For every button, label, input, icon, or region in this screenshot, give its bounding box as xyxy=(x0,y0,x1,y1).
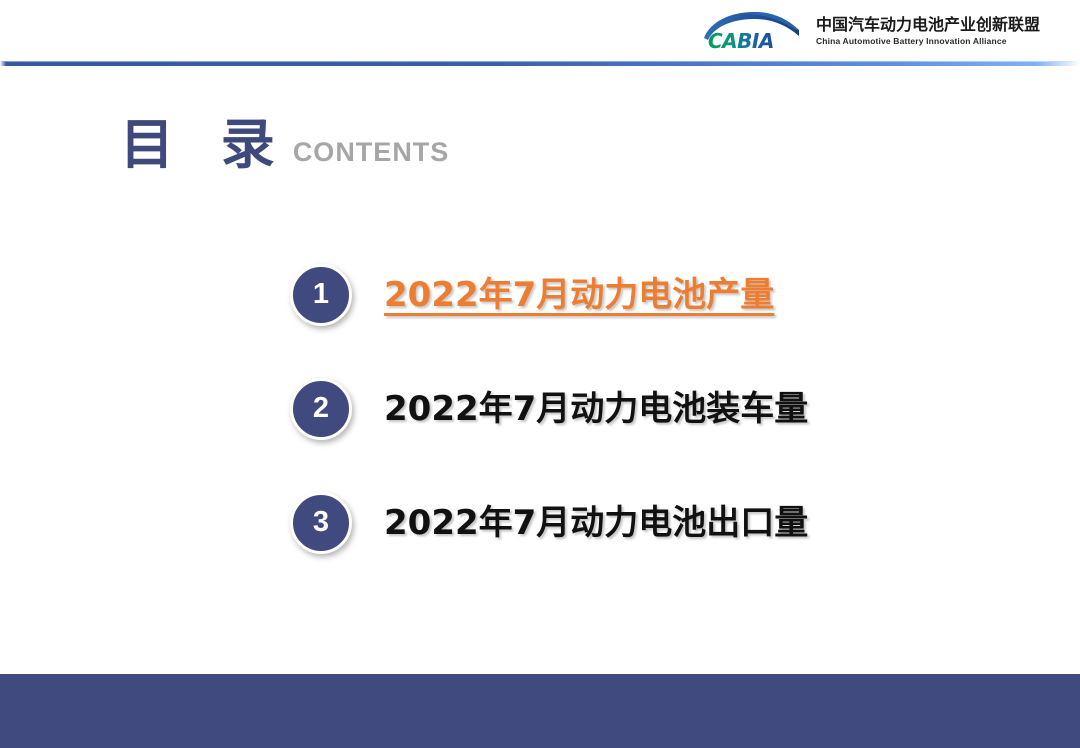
contents-badge-2: 2 xyxy=(290,378,352,440)
footer-bar xyxy=(0,674,1080,748)
brand-name-block: 中国汽车动力电池产业创新联盟 China Automotive Battery … xyxy=(816,17,1040,46)
page-title-cn: 目 录 xyxy=(120,118,289,172)
contents-label-3[interactable]: 2022年7月动力电池出口量 xyxy=(384,506,808,540)
contents-badge-1: 1 xyxy=(290,264,352,326)
page-title: 目 录 CONTENTS xyxy=(120,118,449,172)
contents-label-2[interactable]: 2022年7月动力电池装车量 xyxy=(384,392,808,426)
contents-list: 1 2022年7月动力电池产量 2 2022年7月动力电池装车量 3 2022年… xyxy=(290,264,1010,554)
contents-badge-number-3: 3 xyxy=(313,508,329,537)
cabia-car-logo-icon: CABIA xyxy=(700,10,804,52)
header-divider-highlight xyxy=(0,61,1080,62)
svg-text:CABIA: CABIA xyxy=(708,29,774,52)
contents-item-3[interactable]: 3 2022年7月动力电池出口量 xyxy=(290,492,1010,554)
contents-label-1[interactable]: 2022年7月动力电池产量 xyxy=(384,278,774,312)
contents-item-1[interactable]: 1 2022年7月动力电池产量 xyxy=(290,264,1010,326)
brand-logo: CABIA 中国汽车动力电池产业创新联盟 China Automotive Ba… xyxy=(700,10,1040,52)
contents-badge-number-1: 1 xyxy=(313,280,329,309)
page-title-en: CONTENTS xyxy=(293,139,450,166)
brand-name-cn: 中国汽车动力电池产业创新联盟 xyxy=(816,17,1040,33)
slide-header: CABIA 中国汽车动力电池产业创新联盟 China Automotive Ba… xyxy=(0,0,1080,63)
slide-canvas: CABIA 中国汽车动力电池产业创新联盟 China Automotive Ba… xyxy=(0,0,1080,748)
contents-badge-number-2: 2 xyxy=(313,394,329,423)
contents-item-2[interactable]: 2 2022年7月动力电池装车量 xyxy=(290,378,1010,440)
contents-badge-3: 3 xyxy=(290,492,352,554)
brand-name-en: China Automotive Battery Innovation Alli… xyxy=(816,37,1040,46)
